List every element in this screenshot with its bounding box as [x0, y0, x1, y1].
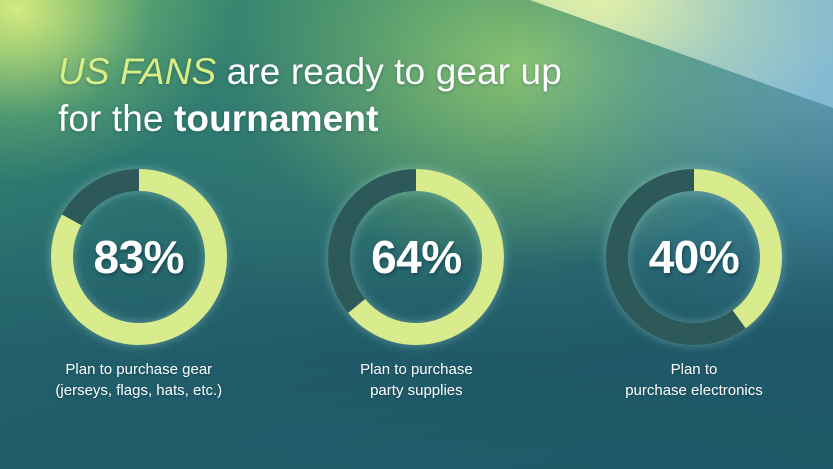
headline-mid: are ready to gear up: [216, 51, 562, 92]
infographic-canvas: US FANS are ready to gear up for the tou…: [0, 0, 833, 469]
donut-chart-party-supplies: 64%: [327, 168, 505, 346]
stat-gear: 83% Plan to purchase gear (jerseys, flag…: [0, 168, 278, 402]
stat-label-electronics: Plan to purchase electronics: [625, 359, 763, 402]
headline-accent: US FANS: [58, 51, 216, 92]
stat-electronics: 40% Plan to purchase electronics: [555, 168, 833, 402]
headline-strong: tournament: [174, 98, 379, 139]
stat-party-supplies: 64% Plan to purchase party supplies: [278, 168, 556, 402]
donut-chart-gear: 83%: [50, 168, 228, 346]
donut-value-electronics: 40%: [605, 168, 783, 346]
donut-chart-electronics: 40%: [605, 168, 783, 346]
donut-value-gear: 83%: [50, 168, 228, 346]
headline-line2-prefix: for the: [58, 98, 174, 139]
stats-row: 83% Plan to purchase gear (jerseys, flag…: [0, 168, 833, 402]
stat-label-party-supplies: Plan to purchase party supplies: [360, 359, 473, 402]
stat-label-gear: Plan to purchase gear (jerseys, flags, h…: [55, 359, 222, 402]
donut-value-party-supplies: 64%: [327, 168, 505, 346]
page-title: US FANS are ready to gear up for the tou…: [58, 48, 658, 143]
